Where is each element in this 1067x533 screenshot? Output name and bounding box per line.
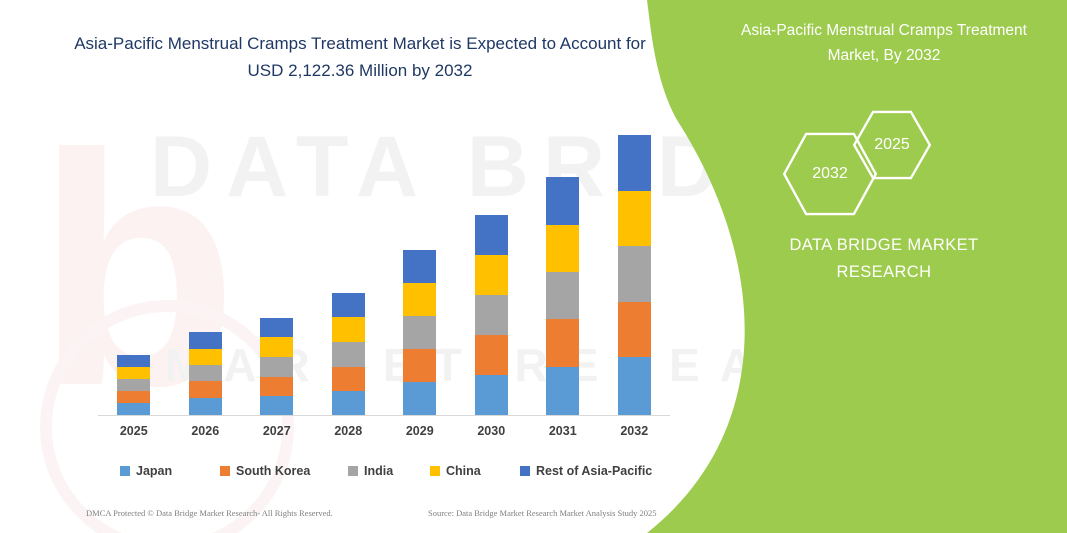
bar-segment-japan	[475, 375, 508, 415]
hexagon-2025: 2025	[852, 110, 932, 180]
bar-segment-south-korea	[546, 319, 579, 367]
legend-item-rest-of-asia-pacific[interactable]: Rest of Asia-Pacific	[520, 464, 652, 478]
bar-segment-india	[403, 316, 436, 349]
legend-item-south-korea[interactable]: South Korea	[220, 464, 310, 478]
bar-segment-rest-of-asia-pacific	[332, 293, 365, 317]
bar-segment-china	[618, 191, 651, 247]
page-title: Asia-Pacific Menstrual Cramps Treatment …	[60, 30, 660, 84]
x-axis-label-2027: 2027	[241, 424, 313, 438]
bar-2031	[546, 177, 579, 415]
legend-swatch-icon	[430, 466, 440, 476]
bar-segment-japan	[117, 403, 150, 415]
legend-swatch-icon	[520, 466, 530, 476]
bar-segment-rest-of-asia-pacific	[189, 332, 222, 349]
footer-right: Source: Data Bridge Market Research Mark…	[428, 508, 657, 518]
legend-label: Japan	[136, 464, 172, 478]
footer-left: DMCA Protected © Data Bridge Market Rese…	[86, 508, 333, 518]
x-axis-label-2026: 2026	[170, 424, 242, 438]
bar-segment-rest-of-asia-pacific	[618, 135, 651, 191]
legend-swatch-icon	[220, 466, 230, 476]
bar-segment-india	[332, 342, 365, 367]
bar-segment-china	[546, 225, 579, 272]
bar-segment-south-korea	[332, 367, 365, 391]
legend-label: China	[446, 464, 481, 478]
x-axis-line	[98, 415, 670, 416]
bar-segment-china	[260, 337, 293, 357]
bar-segment-rest-of-asia-pacific	[117, 355, 150, 367]
x-axis-label-2032: 2032	[599, 424, 671, 438]
bar-segment-rest-of-asia-pacific	[403, 250, 436, 283]
bar-segment-south-korea	[117, 391, 150, 403]
legend-swatch-icon	[348, 466, 358, 476]
x-axis-labels: 20252026202720282029203020312032	[98, 424, 670, 446]
hexagon-2032-label: 2032	[812, 165, 848, 183]
x-axis-label-2028: 2028	[313, 424, 385, 438]
x-axis-label-2025: 2025	[98, 424, 170, 438]
legend-swatch-icon	[120, 466, 130, 476]
bar-segment-rest-of-asia-pacific	[260, 318, 293, 337]
bar-segment-china	[189, 349, 222, 365]
bar-segment-japan	[546, 367, 579, 415]
bar-segment-india	[260, 357, 293, 377]
hexagon-2025-label: 2025	[874, 136, 910, 154]
bar-segment-japan	[403, 382, 436, 415]
bar-segment-south-korea	[403, 349, 436, 382]
infographic-root: b DATA BRIDGE MARKET RESEARCH Asia-Pacif…	[0, 0, 1067, 533]
right-green-panel: Asia-Pacific Menstrual Cramps Treatment …	[647, 0, 1067, 533]
bar-2028	[332, 293, 365, 415]
bar-segment-south-korea	[189, 381, 222, 398]
bar-segment-japan	[189, 398, 222, 415]
bar-segment-china	[117, 367, 150, 379]
bar-segment-south-korea	[260, 377, 293, 396]
bar-2025	[117, 355, 150, 415]
panel-brand-line2: RESEARCH	[739, 259, 1029, 286]
x-axis-label-2031: 2031	[527, 424, 599, 438]
bar-segment-china	[475, 255, 508, 295]
legend-label: South Korea	[236, 464, 310, 478]
panel-brand: DATA BRIDGE MARKET RESEARCH	[739, 232, 1029, 286]
bar-segment-rest-of-asia-pacific	[475, 215, 508, 255]
bar-2030	[475, 215, 508, 415]
legend-label: India	[364, 464, 393, 478]
chart-legend: JapanSouth KoreaIndiaChinaRest of Asia-P…	[120, 464, 665, 484]
legend-item-china[interactable]: China	[430, 464, 481, 478]
bar-2026	[189, 332, 222, 415]
bar-segment-india	[475, 295, 508, 335]
bar-segment-china	[332, 317, 365, 342]
bar-2032	[618, 135, 651, 415]
bar-segment-japan	[618, 357, 651, 415]
hexagon-group: 2032 2025	[757, 110, 1057, 220]
x-axis-label-2029: 2029	[384, 424, 456, 438]
bar-2029	[403, 250, 436, 415]
panel-title: Asia-Pacific Menstrual Cramps Treatment …	[739, 18, 1029, 68]
bar-segment-india	[618, 246, 651, 302]
bar-segment-rest-of-asia-pacific	[546, 177, 579, 225]
legend-item-japan[interactable]: Japan	[120, 464, 172, 478]
bar-segment-japan	[260, 396, 293, 415]
bar-segment-india	[117, 379, 150, 391]
bar-segment-china	[403, 283, 436, 316]
bar-segment-south-korea	[475, 335, 508, 375]
bar-segment-india	[546, 272, 579, 319]
bar-2027	[260, 318, 293, 415]
panel-brand-line1: DATA BRIDGE MARKET	[739, 232, 1029, 259]
bar-chart-plot	[98, 110, 670, 415]
legend-label: Rest of Asia-Pacific	[536, 464, 652, 478]
bar-segment-india	[189, 365, 222, 381]
x-axis-label-2030: 2030	[456, 424, 528, 438]
legend-item-india[interactable]: India	[348, 464, 393, 478]
bar-segment-south-korea	[618, 302, 651, 358]
bar-segment-japan	[332, 391, 365, 415]
